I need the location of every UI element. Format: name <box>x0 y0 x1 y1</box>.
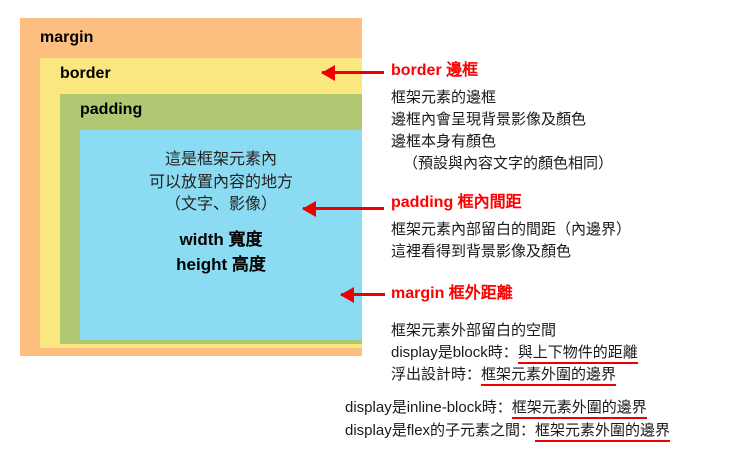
arrow-to-margin-icon <box>341 293 385 296</box>
annotation-line: 框架元素外部留白的空間 <box>391 320 638 342</box>
annotation-margin: margin 框外距離 框架元素外部留白的空間 display是block時：與… <box>391 285 638 386</box>
annotation-line-prefix: display是block時： <box>391 344 518 361</box>
annotation-line-underlined: 框架元素外圍的邊界 <box>535 422 670 442</box>
annotation-line-flex: display是flex的子元素之間：框架元素外圍的邊界 <box>345 419 670 442</box>
arrow-to-border-icon <box>322 71 384 74</box>
content-height-label: height 高度 <box>176 253 266 278</box>
annotation-line-underlined: 框架元素外圍的邊界 <box>481 366 616 386</box>
annotation-margin-body: 框架元素外部留白的空間 display是block時：與上下物件的距離 浮出設計… <box>391 320 638 386</box>
extra-annotation-lines: display是inline-block時：框架元素外圍的邊界 display是… <box>345 396 670 443</box>
annotation-line-inline-block: display是inline-block時：框架元素外圍的邊界 <box>345 396 670 419</box>
content-text-line: 這是框架元素內 <box>165 149 277 172</box>
border-layer-label: border <box>60 66 362 82</box>
padding-layer: padding 這是框架元素內 可以放置內容的地方 （文字、影像） width … <box>60 94 362 344</box>
annotation-border-title: border 邊框 <box>391 62 613 80</box>
annotation-line: 框架元素的邊框 <box>391 87 613 109</box>
annotation-line-float: 浮出設計時：框架元素外圍的邊界 <box>391 364 638 386</box>
content-text-line: （文字、影像） <box>165 194 277 217</box>
annotation-border-body: 框架元素的邊框 邊框內會呈現背景影像及顏色 邊框本身有顏色 （預設與內容文字的顏… <box>391 87 613 175</box>
annotation-border: border 邊框 框架元素的邊框 邊框內會呈現背景影像及顏色 邊框本身有顏色 … <box>391 62 613 175</box>
annotation-line-block: display是block時：與上下物件的距離 <box>391 342 638 364</box>
annotation-line-prefix: 浮出設計時： <box>391 366 481 383</box>
css-box-model-diagram: margin border padding 這是框架元素內 可以放置內容的地方 … <box>20 18 362 356</box>
annotation-line: （預設與內容文字的顏色相同） <box>391 153 613 175</box>
content-width-label: width 寬度 <box>179 228 262 253</box>
margin-layer-label: margin <box>40 30 362 46</box>
annotation-line: 邊框內會呈現背景影像及顏色 <box>391 109 613 131</box>
annotation-margin-title: margin 框外距離 <box>391 285 638 303</box>
annotation-line: 這裡看得到背景影像及顏色 <box>391 241 631 263</box>
arrow-to-padding-icon <box>303 207 384 210</box>
content-text-line: 可以放置內容的地方 <box>149 172 293 195</box>
annotation-line-prefix: display是inline-block時： <box>345 399 512 416</box>
annotation-line: 框架元素內部留白的間距（內邊界） <box>391 219 631 241</box>
annotation-padding-body: 框架元素內部留白的間距（內邊界） 這裡看得到背景影像及顏色 <box>391 219 631 263</box>
annotation-line-underlined: 框架元素外圍的邊界 <box>512 399 647 419</box>
annotation-line-prefix: display是flex的子元素之間： <box>345 422 535 439</box>
padding-layer-label: padding <box>80 102 362 118</box>
content-layer: 這是框架元素內 可以放置內容的地方 （文字、影像） width 寬度 heigh… <box>80 130 362 340</box>
annotation-padding-title: padding 框內間距 <box>391 194 631 212</box>
annotation-padding: padding 框內間距 框架元素內部留白的間距（內邊界） 這裡看得到背景影像及… <box>391 194 631 263</box>
margin-layer: margin border padding 這是框架元素內 可以放置內容的地方 … <box>20 18 362 356</box>
annotation-line: 邊框本身有顏色 <box>391 131 613 153</box>
annotation-line-underlined: 與上下物件的距離 <box>518 344 638 364</box>
